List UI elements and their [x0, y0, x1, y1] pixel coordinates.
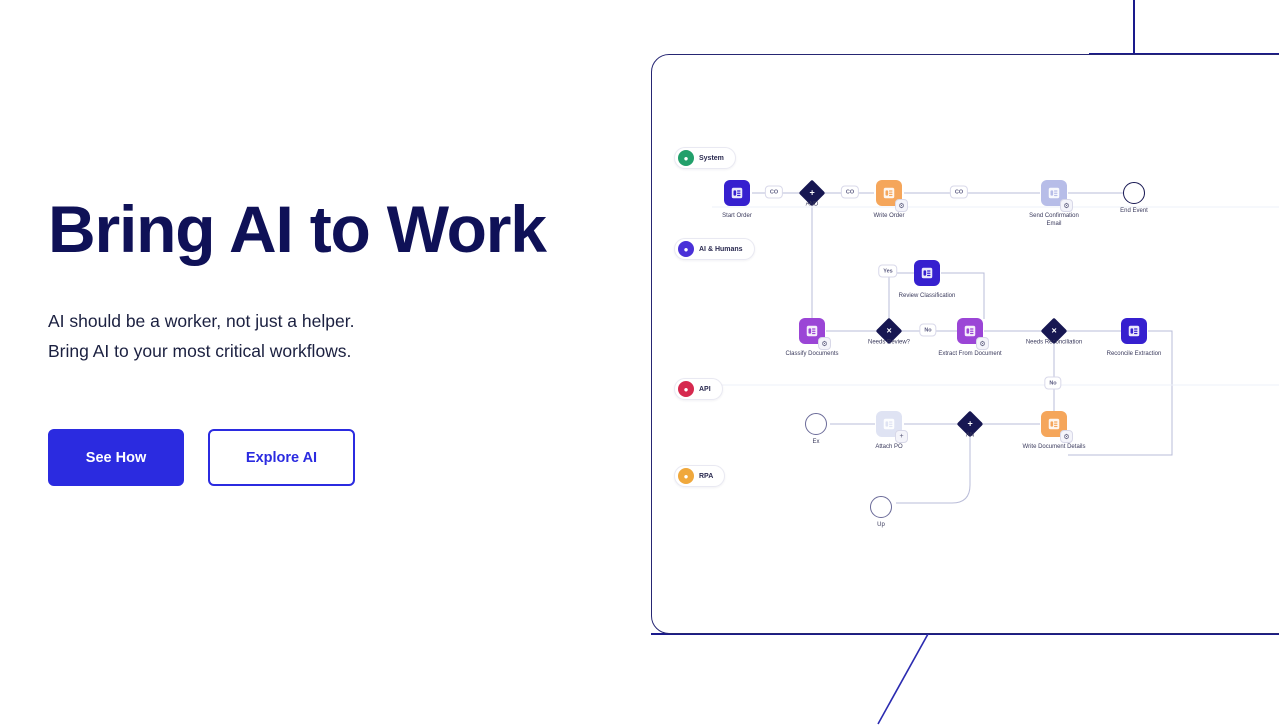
workflow-event-label: End Event: [1104, 208, 1164, 214]
workflow-connectors: [652, 55, 1279, 634]
workflow-canvas[interactable]: ●System●AI & Humans●API●RPA COCOCOYesNoN…: [652, 55, 1279, 634]
write-icon: ⚙: [1041, 411, 1067, 437]
workflow-node-label: Classify Documents: [780, 350, 844, 358]
connector-chip-co-0[interactable]: CO: [765, 186, 783, 199]
write-icon: ⚙: [876, 180, 902, 206]
workflow-gateway-and-2[interactable]: +AN: [961, 415, 980, 434]
workflow-gateway-needs-reconciliation[interactable]: ×Needs Reconciliation: [1045, 322, 1064, 341]
connector-chip-co-2[interactable]: CO: [950, 186, 968, 199]
workflow-node-write-order[interactable]: ⚙Write Order: [876, 180, 902, 206]
swimlane-pill-system[interactable]: ●System: [674, 147, 736, 169]
event-circle-icon: [805, 413, 827, 435]
connector-chip-co-1[interactable]: CO: [841, 186, 859, 199]
gateway-mark: +: [809, 188, 814, 197]
plug-icon: ●: [678, 381, 694, 397]
workflow-node-extract-from-document[interactable]: ⚙Extract From Document: [957, 318, 983, 344]
decorative-vertical-line-top-right: [1133, 0, 1135, 54]
page-root: Bring AI to Work AI should be a worker, …: [0, 0, 1279, 727]
workflow-event-label: Ex: [786, 439, 846, 445]
explore-ai-button[interactable]: Explore AI: [208, 429, 355, 486]
hero-subtitle-line-1: AI should be a worker, not just a helper…: [48, 306, 608, 336]
gateway-mark: +: [967, 419, 972, 428]
classify-icon: ⚙: [799, 318, 825, 344]
workflow-gateway-label: AND: [782, 202, 842, 210]
workflow-gateway-label: Needs Reconciliation: [1024, 340, 1084, 348]
node-badge-icon: ⚙: [1060, 199, 1073, 212]
workflow-event-ex-event[interactable]: Ex: [805, 413, 827, 435]
swimlane-label: System: [699, 155, 724, 162]
workflow-event-end-event[interactable]: End Event: [1123, 182, 1145, 204]
swimlane-pill-api[interactable]: ●API: [674, 378, 723, 400]
connector-chip-yes-3[interactable]: Yes: [878, 265, 897, 278]
gateway-mark: ×: [886, 326, 891, 335]
event-circle-icon: [870, 496, 892, 518]
extract-icon: ⚙: [957, 318, 983, 344]
swimlane-label: RPA: [699, 473, 713, 480]
document-list-icon: [1121, 318, 1147, 344]
see-how-button[interactable]: See How: [48, 429, 184, 486]
workflow-node-start-order[interactable]: Start Order: [724, 180, 750, 206]
workflow-event-up-event[interactable]: Up: [870, 496, 892, 518]
circle-check-icon: ●: [678, 150, 694, 166]
page-title: Bring AI to Work: [48, 196, 608, 262]
document-list-icon: [724, 180, 750, 206]
swimlane-label: API: [699, 386, 711, 393]
node-badge-icon: ⚙: [818, 337, 831, 350]
node-badge-icon: ⚙: [895, 199, 908, 212]
envelope-icon: ⚙: [1041, 180, 1067, 206]
workflow-node-label: Extract From Document: [938, 350, 1002, 358]
hero-section: Bring AI to Work AI should be a worker, …: [48, 196, 608, 366]
workflow-gateway-needs-review[interactable]: ×Needs Review?: [880, 322, 899, 341]
workflow-node-review-classification[interactable]: Review Classification: [914, 260, 940, 286]
swimlane-pill-ai-humans[interactable]: ●AI & Humans: [674, 238, 755, 260]
node-badge-icon: ⚙: [1060, 430, 1073, 443]
workflow-node-reconcile-extraction[interactable]: Reconcile Extraction: [1121, 318, 1147, 344]
swimlane-pill-rpa[interactable]: ●RPA: [674, 465, 725, 487]
workflow-node-send-confirmation[interactable]: ⚙Send Confirmation Email: [1041, 180, 1067, 206]
decorative-diagonal-line-bottom: [860, 628, 980, 727]
workflow-node-label: Reconcile Extraction: [1102, 350, 1166, 358]
workflow-node-label: Start Order: [705, 212, 769, 220]
connector-chip-no-4[interactable]: No: [919, 324, 936, 337]
document-list-icon: [914, 260, 940, 286]
workflow-gateway-label: Needs Review?: [859, 340, 919, 348]
workflow-node-label: Write Order: [857, 212, 921, 220]
robot-icon: ●: [678, 241, 694, 257]
workflow-node-label: Send Confirmation Email: [1022, 212, 1086, 228]
workflow-gateway-label: AN: [940, 433, 1000, 441]
swimlane-label: AI & Humans: [699, 246, 743, 253]
event-circle-icon: [1123, 182, 1145, 204]
workflow-event-label: Up: [851, 522, 911, 528]
connector-chip-no-5[interactable]: No: [1044, 377, 1061, 390]
bot-icon: ●: [678, 468, 694, 484]
hero-subtitle-line-2: Bring AI to your most critical workflows…: [48, 336, 608, 366]
workflow-node-classify-documents[interactable]: ⚙Classify Documents: [799, 318, 825, 344]
workflow-diagram-card[interactable]: ●System●AI & Humans●API●RPA COCOCOYesNoN…: [651, 54, 1279, 634]
workflow-node-write-document-details[interactable]: ⚙Write Document Details: [1041, 411, 1067, 437]
gateway-mark: ×: [1051, 326, 1056, 335]
workflow-node-attach-po[interactable]: +Attach PO: [876, 411, 902, 437]
node-badge-icon: +: [895, 430, 908, 443]
workflow-node-label: Attach PO: [857, 443, 921, 451]
workflow-node-label: Write Document Details: [1022, 443, 1086, 451]
workflow-gateway-and-1[interactable]: +AND: [803, 184, 822, 203]
attach-icon: +: [876, 411, 902, 437]
node-badge-icon: ⚙: [976, 337, 989, 350]
hero-subtitle: AI should be a worker, not just a helper…: [48, 306, 608, 366]
cta-button-row: See How Explore AI: [48, 429, 355, 486]
workflow-node-label: Review Classification: [895, 292, 959, 300]
